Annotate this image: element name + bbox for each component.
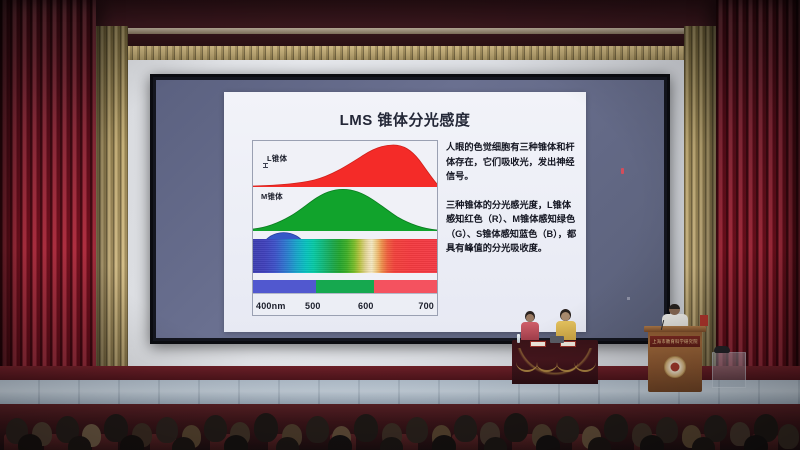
lectern-banner: 上海市教育科学研究院: [650, 336, 700, 347]
audience-head: [536, 435, 560, 450]
audience-head: [744, 435, 768, 450]
audience-head: [224, 435, 248, 450]
l-cone-tick: [265, 163, 266, 168]
table-swag: [574, 352, 596, 372]
lectern-emblem: [664, 356, 686, 378]
laser-pointer-dot: [621, 168, 624, 174]
audience-head: [778, 424, 799, 449]
audience-head: [406, 417, 428, 443]
audience-head: [454, 415, 477, 442]
axis-tick-400: 400nm: [256, 301, 286, 311]
laptop: [550, 336, 564, 343]
audience-head: [254, 413, 278, 442]
red-sign: [700, 315, 708, 326]
audience-head: [640, 435, 664, 450]
screen-speck: [627, 297, 630, 300]
water-bottle: [517, 334, 520, 343]
person-face: [526, 314, 534, 322]
audience-head: [556, 416, 579, 443]
speaker-hair: [669, 304, 680, 309]
audience-head: [18, 434, 42, 450]
lectern-top: [644, 326, 706, 332]
band-red: [374, 280, 437, 293]
judges-table: [512, 340, 598, 384]
auditorium-scene: LMS 锥体分光感度 L锥体: [0, 0, 800, 450]
audience-head: [204, 415, 227, 442]
person-face: [561, 312, 570, 321]
slide-paragraph-2: 三种锥体的分光感光度，L锥体感知红色（R）、M锥体感知绿色（G）、S锥体感知蓝色…: [446, 198, 578, 256]
slide-body-text: 人眼的色觉细胞有三种锥体和杆体存在，它们吸收光，发出神经信号。 三种锥体的分光感…: [446, 140, 578, 256]
audience-head: [120, 435, 144, 450]
audience-head: [68, 436, 91, 450]
axis-tick-500: 500: [305, 301, 321, 311]
lms-chart: L锥体 M锥体: [252, 140, 438, 316]
audience-head: [604, 414, 628, 442]
person-torso: [521, 322, 539, 342]
band-blue: [253, 280, 316, 293]
table-swag: [536, 352, 558, 372]
m-cone-label: M锥体: [261, 191, 283, 202]
band-green: [316, 280, 375, 293]
rgb-band-bar: [253, 280, 437, 293]
table-swag: [516, 352, 538, 372]
seated-person-left: [521, 311, 539, 343]
lectern-banner-text: 上海市教育科学研究院: [652, 339, 698, 345]
audience-head: [354, 414, 378, 442]
slide-title: LMS 锥体分光感度: [224, 109, 586, 130]
screen-surface: LMS 锥体分光感度 L锥体: [156, 80, 664, 338]
spectrum-bar: [253, 239, 437, 273]
side-table-object: [714, 346, 730, 353]
l-cone-label: L锥体: [267, 153, 287, 164]
side-table: [712, 352, 746, 388]
presentation-slide: LMS 锥体分光感度 L锥体: [224, 92, 586, 332]
wavelength-axis: 400nm 500 600 700: [253, 293, 437, 315]
nameplate-left: [530, 341, 546, 347]
axis-tick-700: 700: [418, 301, 434, 311]
audience-head: [328, 435, 352, 450]
lectern: 上海市教育科学研究院: [648, 330, 702, 392]
slide-paragraph-1: 人眼的色觉细胞有三种锥体和杆体存在，它们吸收光，发出神经信号。: [446, 140, 578, 184]
audience-head: [484, 437, 507, 450]
audience-head: [504, 413, 528, 442]
audience: [0, 404, 800, 450]
audience-head: [432, 435, 456, 450]
audience-head: [306, 416, 329, 443]
axis-tick-600: 600: [358, 301, 374, 311]
projection-screen: LMS 锥体分光感度 L锥体: [150, 74, 670, 344]
l-cone-svg: [253, 143, 437, 187]
l-cone-curve: [253, 143, 437, 187]
